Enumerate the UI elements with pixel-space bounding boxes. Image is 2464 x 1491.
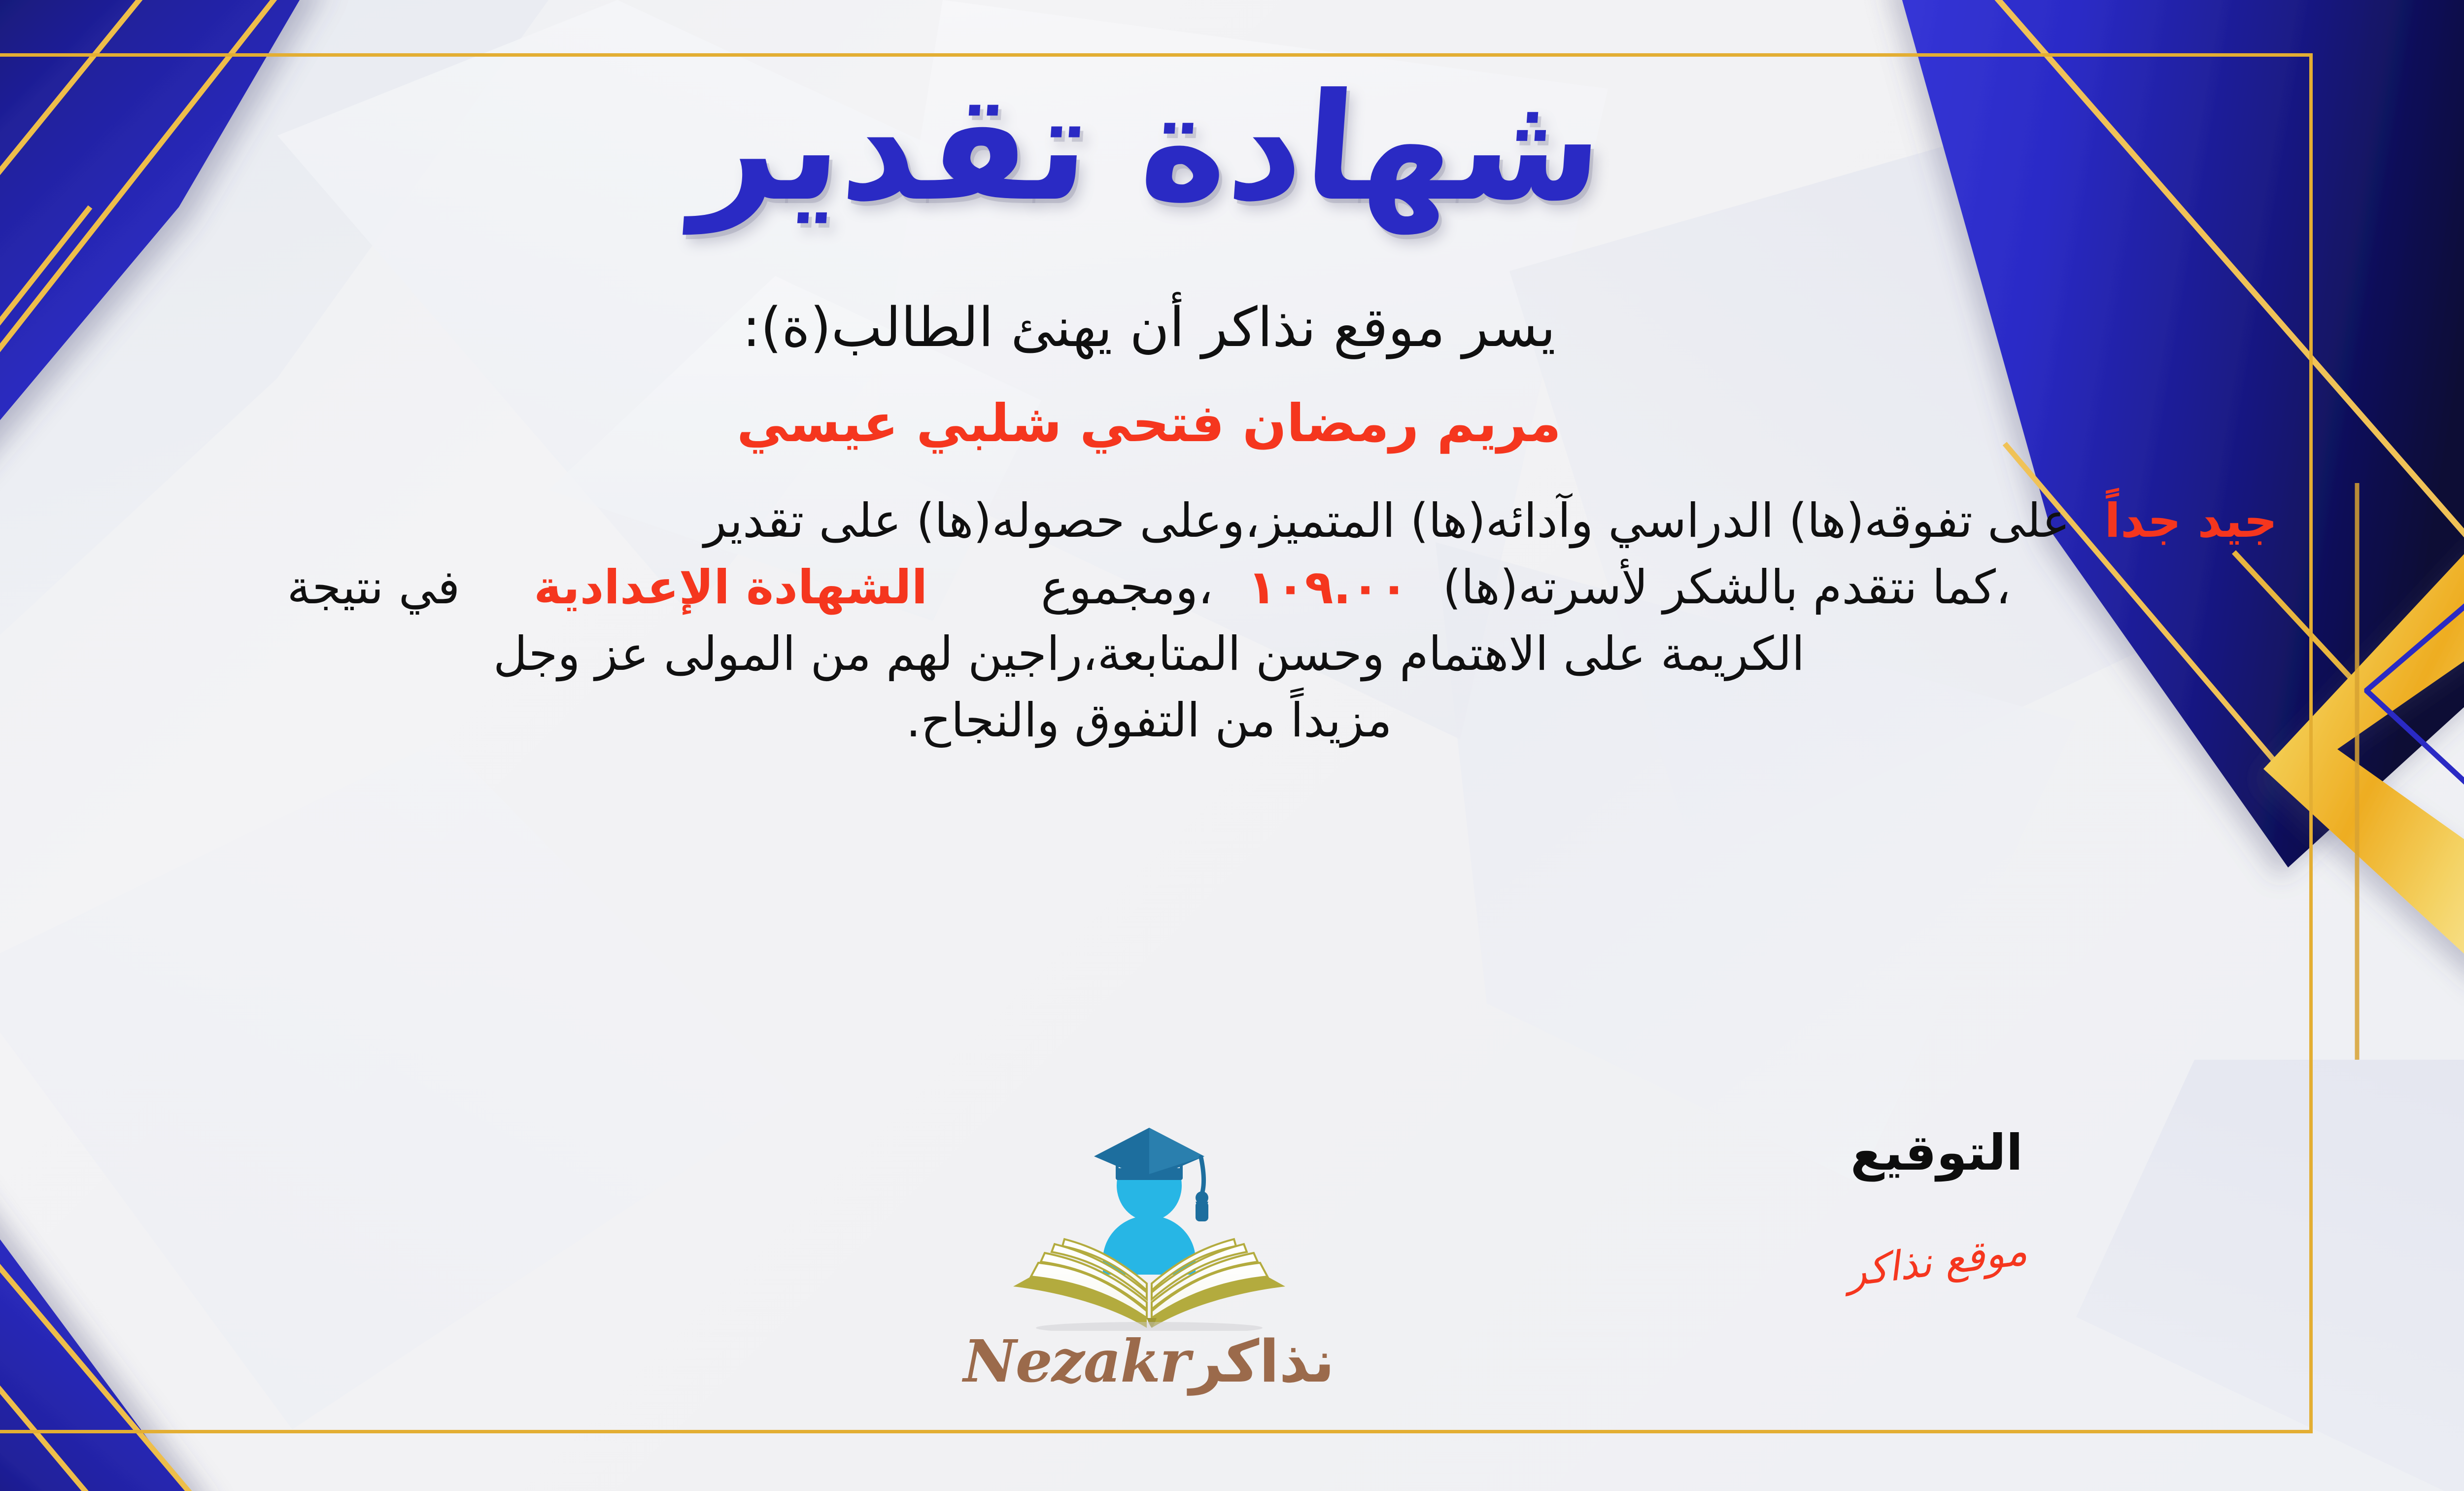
certificate-body: جيد جداًعلى تفوقه(ها) الدراسي وآدائه(ها)… [0, 488, 2307, 754]
certificate-footer: التوقيع موقع نذاكر [0, 1124, 2464, 1439]
body-line-3: الكريمة على الاهتمام وحسن المتابعة،راجين… [0, 621, 2307, 688]
body-line-4: مزيداً من التفوق والنجاح. [0, 688, 2307, 754]
exam-name: الشهادة الإعدادية [534, 560, 927, 615]
page-title: شهادة تقدير [690, 74, 1608, 222]
total-score: ١٠٩.٠٠ [1248, 560, 1408, 615]
body-line-2: ،كما نتقدم بالشكر لأسرته(ها)١٠٩.٠٠،ومجمو… [0, 555, 2307, 621]
graduate-book-icon [992, 1119, 1307, 1331]
logo-latin-text: Nezakr [963, 1327, 1189, 1395]
logo-wordmark: نذاكرNezakr [963, 1327, 1335, 1395]
body-line-1-text: على تفوقه(ها) الدراسي وآدائه(ها) المتميز… [704, 494, 2070, 548]
body-line-1: جيد جداًعلى تفوقه(ها) الدراسي وآدائه(ها)… [0, 488, 2307, 555]
student-name: مريم رمضان فتحي شلبي عيسي [737, 393, 1561, 453]
body-line-2-mid: ،ومجموع [1041, 560, 1213, 615]
greeting-text: يسر موقع نذاكر أن يهنئ الطالب(ة): [742, 296, 1556, 359]
certificate-page: شهادة تقدير يسر موقع نذاكر أن يهنئ الطال… [0, 0, 2464, 1491]
brand-logo: نذاكرNezakr [0, 1119, 2464, 1395]
grade-value: جيد جداً [2104, 494, 2277, 548]
body-line-2-prefix: في نتيجة [287, 560, 460, 615]
logo-arabic-text: نذاكر [1189, 1327, 1335, 1395]
body-line-2-suffix: ،كما نتقدم بالشكر لأسرته(ها) [1443, 560, 2011, 615]
